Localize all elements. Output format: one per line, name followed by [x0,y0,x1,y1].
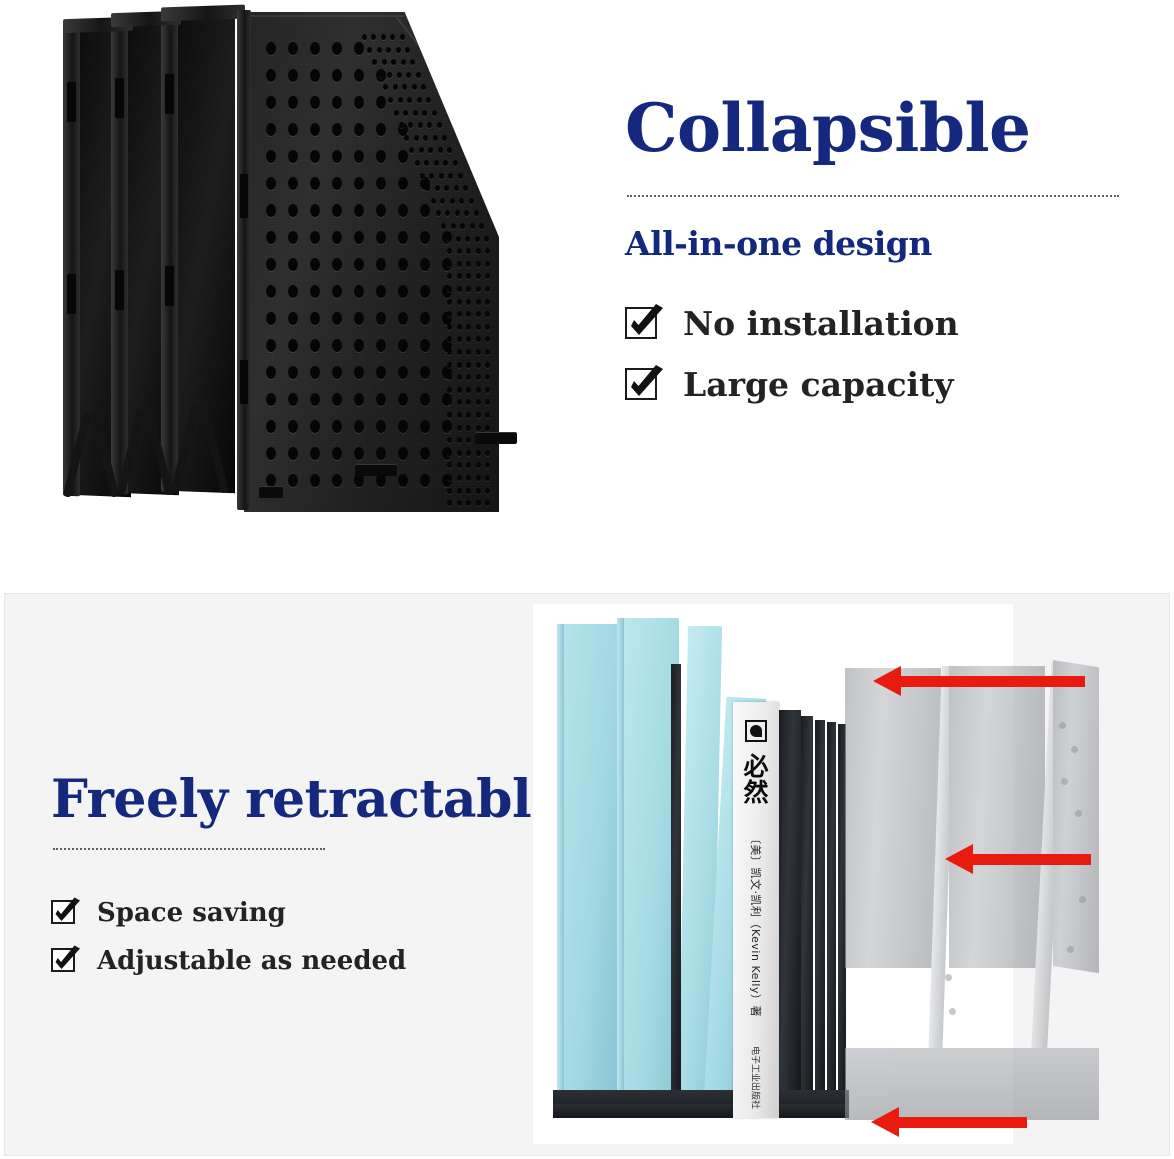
perforation-hole [354,312,364,325]
perforation-hole-small [413,110,418,116]
perforation-hole-small [423,135,428,141]
perforation-hole [288,123,298,136]
perforation-hole [266,366,276,379]
perforated-side-wall [244,12,499,512]
perforation-hole-small [457,450,462,456]
perforation-hole [332,150,342,163]
perforation-hole-small [466,261,471,267]
perforation-hole-small [476,500,481,506]
perforation-hole-small [397,72,402,78]
perforation-hole-small [457,273,462,279]
perforation-hole [332,447,342,460]
perforation-hole [288,231,298,244]
ghost-perforation [945,974,952,981]
perforation-hole [332,420,342,433]
perforation-hole-small [466,475,471,481]
perforation-hole-small [457,412,462,418]
leaf-notch-2b [115,270,124,310]
divider-panel-center [671,664,681,1116]
perforation-hole-small [447,324,452,330]
perforation-hole-small [434,160,439,166]
arrow-head [871,1107,899,1137]
base-tray-front [553,1104,849,1118]
perforation-hole [376,96,386,109]
perforation-hole-small [405,47,410,53]
arrow-head [945,844,973,874]
divider-panel-right-1 [779,710,801,1118]
book-title: 必然 [733,754,779,807]
perforation-hole-small [437,122,442,128]
perforation-hole [398,231,408,244]
perforation-hole [420,312,430,325]
perforation-hole-small [469,198,474,204]
retract-arrow-top [873,666,1085,696]
perforation-hole [376,258,386,271]
perforation-hole [354,258,364,271]
perforation-hole-small [362,34,367,40]
perforation-hole-small [475,236,480,242]
perforation-hole [398,474,408,487]
perforation-hole-small [422,110,427,116]
perforation-hole-small [398,97,403,103]
perforation-hole [332,123,342,136]
product-photo-stage [55,4,555,544]
perforation-hole-small [476,324,481,330]
perforation-hole-small [415,160,420,166]
bottom-headline: Freely retractable [51,774,571,826]
top-copy-block: Collapsible All-in-one design No install… [625,95,1125,426]
bottom-copy-block: Freely retractable Space saving [51,774,571,994]
perforation-hole [288,339,298,352]
perforation-hole-small [403,110,408,116]
checkmark-icon [51,900,77,926]
perforation-hole [310,177,320,190]
perforation-hole [354,231,364,244]
top-feature-list: No installation Large capacity [625,304,1125,404]
perforation-hole [398,177,408,190]
perforation-hole-small [457,462,462,468]
perforation-hole [376,420,386,433]
perforation-hole [376,204,386,217]
perforation-hole-small [417,97,422,103]
perforation-hole-small [476,349,481,355]
perforation-hole [398,150,408,163]
perforation-hole-small [466,324,471,330]
perforation-hole [376,123,386,136]
perforation-hole-small [457,311,462,317]
wall-top-edge [244,15,404,17]
feature-label: No installation [683,304,959,343]
perforation-hole-small [416,72,421,78]
perforation-hole-small [457,500,462,506]
perforation-hole [420,447,430,460]
perforation-hole-small [466,488,471,494]
perforation-hole-small [457,399,462,405]
perforation-hole [376,285,386,298]
perforation-hole-small [399,122,404,128]
book-author: 〔美〕凯文·凯利（Kevin Kelly）著 [748,833,764,1017]
collapsible-product-photo [55,4,555,544]
perforation-hole [354,69,364,82]
perforation-hole-small [485,261,490,267]
binder-1 [561,624,619,1112]
ghost-retracted-organizer [845,660,1113,1120]
perforation-hole-small [447,261,452,267]
perforation-hole [310,420,320,433]
perforation-hole [310,447,320,460]
perforation-hole-small [457,475,462,481]
perforation-hole [266,231,276,244]
perforation-hole-small [466,387,471,393]
perforation-hole-small [485,324,490,330]
perforation-hole [310,69,320,82]
arrow-shaft [897,1117,1027,1128]
perforation-hole-small [476,387,481,393]
perforation-hole-small [485,450,490,456]
feature-item-adjustable: Adjustable as needed [51,946,571,976]
leaf-notch-1a [67,82,76,122]
perforation-hole [398,258,408,271]
arrow-shaft [899,676,1085,687]
perforation-hole [376,231,386,244]
perforation-hole-small [476,248,481,254]
top-subtitle: All-in-one design [625,227,1125,260]
top-feature-section: Collapsible All-in-one design No install… [0,0,1174,593]
perforation-hole [332,258,342,271]
perforation-hole-small [476,412,481,418]
perforation-hole-small [447,362,452,368]
perforation-hole [266,312,276,325]
perforation-hole [288,447,298,460]
perforation-hole [354,177,364,190]
perforation-hole [266,204,276,217]
perforation-hole-small [466,412,471,418]
perforation-hole-small [420,173,425,179]
perforation-hole-small [431,198,436,204]
perforation-hole-small [450,198,455,204]
perforation-hole [332,204,342,217]
top-cap-3 [161,5,245,22]
perforation-hole [288,393,298,406]
perforation-hole-small [457,286,462,292]
perforation-hole-small [476,311,481,317]
perforation-hole-small [414,135,419,141]
perforation-hole [266,69,276,82]
perforation-hole-small [476,261,481,267]
perforation-hole-small [466,425,471,431]
perforation-hole-small [440,198,445,204]
perforation-hole-small [476,273,481,279]
perforation-hole [332,96,342,109]
perforation-hole [354,447,364,460]
perforation-hole [354,285,364,298]
perforation-hole-small [485,299,490,305]
perforation-hole [398,339,408,352]
perforation-hole-small [400,34,405,40]
perforation-hole [288,177,298,190]
perforation-hole [288,474,298,487]
perforation-hole [376,393,386,406]
perforation-hole [376,447,386,460]
perforation-hole-small [485,488,490,494]
perforation-hole [420,285,430,298]
perforation-hole-small [476,475,481,481]
perforation-hole-small [456,236,461,242]
perforation-hole [420,204,430,217]
feature-item-no-installation: No installation [625,304,1125,343]
perforation-hole [310,366,320,379]
perforation-hole [310,96,320,109]
perforation-hole [420,258,430,271]
perforation-hole [354,339,364,352]
ghost-perforation [1059,722,1066,729]
perforation-hole-small [466,286,471,292]
perforation-hole [376,150,386,163]
perforation-hole-small [447,349,452,355]
perforation-hole [354,393,364,406]
perforation-hole-small [432,110,437,116]
perforation-hole [288,258,298,271]
perforation-hole-small [476,399,481,405]
ghost-perforation [1061,778,1068,785]
foot-clip-mid [355,464,397,476]
perforation-hole [266,285,276,298]
ghost-perforation [1079,896,1086,903]
perforation-hole [266,177,276,190]
perforation-hole [310,150,320,163]
checkmark-icon [51,948,77,974]
perforation-hole [376,366,386,379]
publisher-logo-icon [745,720,767,742]
perforation-hole [354,420,364,433]
perforation-hole [354,150,364,163]
perforation-hole-small [447,412,452,418]
perforation-hole-small [447,299,452,305]
perforation-hole-small [470,223,475,229]
perforation-hole-small [433,135,438,141]
wall-hinge-strip [237,10,251,510]
perforation-hole [420,393,430,406]
perforation-hole-small [485,425,490,431]
perforation-hole [288,366,298,379]
divider-panel-right-4 [827,722,836,1118]
perforation-hole-small [457,374,462,380]
perforation-hole [310,204,320,217]
perforation-hole [332,42,342,55]
feature-item-large-capacity: Large capacity [625,365,1125,404]
perforation-hole [398,204,408,217]
perforation-hole [266,123,276,136]
perforation-hole-small [367,47,372,53]
perforation-hole [332,474,342,487]
perforation-hole-small [485,362,490,368]
perforation-hole [420,474,430,487]
perforation-hole-small [476,299,481,305]
perforation-hole-small [476,336,481,342]
perforation-hole-small [442,135,447,141]
perforation-hole-small [378,72,383,78]
ghost-perforation [1071,746,1078,753]
bottom-feature-section: Freely retractable Space saving [4,593,1170,1156]
foot-clip-left [259,486,283,498]
perforation-hole [420,420,430,433]
perforation-hole-small [404,135,409,141]
perforation-hole-small [476,450,481,456]
perforation-hole [354,123,364,136]
perforation-hole-small [447,475,452,481]
divider-panel-right-3 [815,720,825,1118]
perforation-hole-small [457,336,462,342]
perforation-hole [420,339,430,352]
perforation-hole-small [476,374,481,380]
perforation-hole [332,339,342,352]
feature-label: Large capacity [683,365,954,404]
perforation-hole [332,366,342,379]
perforation-hole [266,447,276,460]
feature-label: Space saving [97,898,286,928]
perforation-hole-small [476,488,481,494]
perforation-hole [266,339,276,352]
perforation-hole [288,285,298,298]
perforation-hole [288,150,298,163]
leaf-notch-3b [165,266,174,306]
perforation-hole [266,42,276,55]
perforation-hole [376,177,386,190]
perforation-hole [288,420,298,433]
arrow-shaft [971,854,1091,865]
perforation-hole-small [457,387,462,393]
perforation-hole [398,393,408,406]
perforation-hole-small [457,349,462,355]
perforation-hole-small [457,248,462,254]
perforation-hole [310,393,320,406]
perforation-hole-small [457,299,462,305]
ghost-perforation [1075,810,1082,817]
perforation-hole [332,177,342,190]
perforation-hole-small [457,362,462,368]
perforation-hole-small [394,110,399,116]
feature-item-space-saving: Space saving [51,898,571,928]
perforation-hole-small [466,362,471,368]
perforation-hole-small [457,324,462,330]
perforation-hole-small [485,349,490,355]
perforation-hole-small [393,84,398,90]
perforation-hole [332,231,342,244]
perforation-hole-small [485,387,490,393]
perforation-hole [332,393,342,406]
perforation-hole-small [466,299,471,305]
checkmark-icon [625,368,659,402]
perforation-hole-small [451,223,456,229]
top-headline: Collapsible [625,95,1125,161]
checkmark-icon [625,307,659,341]
perforation-hole-small [454,185,459,191]
perforation-hole-small [457,425,462,431]
foot-clip-right [475,432,517,444]
perforation-hole-small [396,47,401,53]
perforation-hole-small [435,185,440,191]
perforation-hole-small [485,475,490,481]
perforation-hole [354,42,364,55]
perforation-hole-small [377,47,382,53]
perforation-hole [398,447,408,460]
perforation-hole-small [447,488,452,494]
perforation-hole [354,366,364,379]
perforation-hole-small [386,47,391,53]
ghost-perforation [949,1008,956,1015]
perforation-hole [266,150,276,163]
perforation-hole-small [457,488,462,494]
perforation-hole [332,312,342,325]
ghost-panel-1 [845,668,941,968]
retract-arrow-bottom [871,1107,1027,1137]
perforation-hole [310,312,320,325]
perforation-hole [310,231,320,244]
perforation-hole [398,285,408,298]
perforation-hole [266,420,276,433]
perforation-hole [288,96,298,109]
perforation-hole [266,393,276,406]
perforation-hole-small [418,122,423,128]
perforation-hole [420,366,430,379]
feature-label: Adjustable as needed [97,946,406,976]
perforation-hole [332,69,342,82]
perforation-hole [266,96,276,109]
bottom-dotted-divider [53,848,325,850]
leaf-notch-3a [165,74,174,114]
perforation-hole [288,42,298,55]
perforation-hole-small [476,425,481,431]
perforation-hole [376,312,386,325]
perforation-hole-small [447,286,452,292]
wall-notch-b [240,360,248,404]
leaf-notch-1b [67,274,76,314]
perforation-hole [310,258,320,271]
perforation-hole [288,204,298,217]
perforation-hole-small [466,450,471,456]
perforation-hole-small [485,286,490,292]
perforation-hole [288,69,298,82]
perforation-hole-small [458,173,463,179]
retract-arrow-middle [945,844,1091,874]
perforation-hole-small [476,286,481,292]
perforation-hole [310,123,320,136]
divider-panel-right-2 [801,716,813,1118]
perforation-hole [266,258,276,271]
arrow-head [873,666,901,696]
perforation-hole [310,42,320,55]
perforation-hole-small [485,412,490,418]
binder-2-edge [617,618,624,1112]
perforation-hole [310,285,320,298]
perforation-hole [420,231,430,244]
perforation-hole-small [457,261,462,267]
perforation-hole-small [459,198,464,204]
perforation-hole-small [447,450,452,456]
book-spine: 必然 〔美〕凯文·凯利（Kevin Kelly）著 电子工业出版社 [733,702,779,1118]
perforation-hole-small [453,160,458,166]
wall-notch-a [240,174,248,218]
perforation-hole-small [476,362,481,368]
perforation-hole [376,339,386,352]
perforation-hole [288,312,298,325]
perforation-hole [354,204,364,217]
ghost-perforation [1067,946,1074,953]
perforation-hole [398,366,408,379]
perforation-hole-small [476,462,481,468]
perforation-hole [398,420,408,433]
perforation-hole [398,312,408,325]
